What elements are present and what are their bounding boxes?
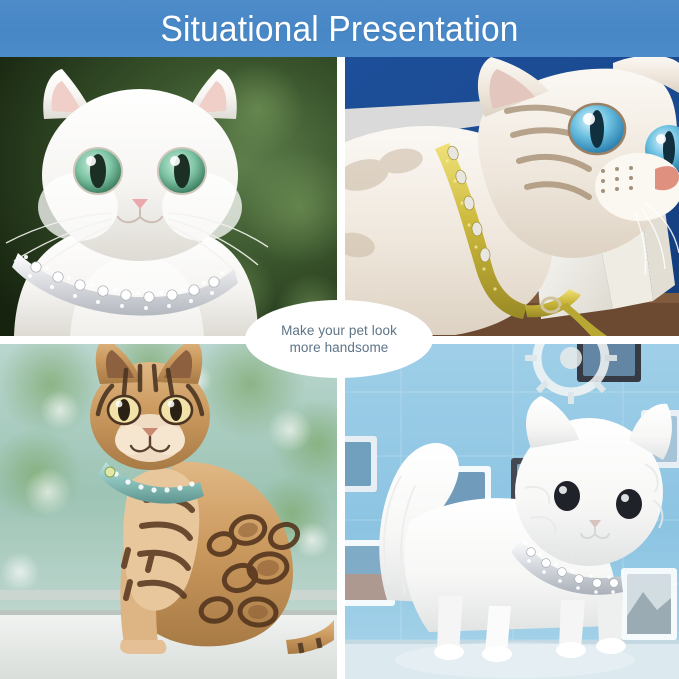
blue-eyed-cat-illustration: [345, 57, 679, 336]
photo-top-left-white-cat[interactable]: [0, 57, 337, 336]
callout-bubble: Make your pet look more handsome: [245, 300, 433, 378]
header-banner: Situational Presentation: [0, 0, 679, 57]
photo-top-right-blue-eyed-cat[interactable]: [345, 57, 679, 336]
photo-bottom-left-bengal-cat[interactable]: [0, 344, 337, 679]
callout-line-1: Make your pet look: [281, 323, 397, 338]
white-kitten-illustration: [345, 344, 679, 679]
photo-bottom-right-white-kitten[interactable]: [345, 344, 679, 679]
callout-text: Make your pet look more handsome: [273, 322, 405, 356]
page-title: Situational Presentation: [160, 11, 518, 47]
white-cat-illustration: [0, 57, 337, 336]
product-image-panel: Situational Presentation: [0, 0, 679, 679]
bengal-cat-illustration: [0, 344, 337, 679]
callout-line-2: more handsome: [290, 340, 389, 355]
